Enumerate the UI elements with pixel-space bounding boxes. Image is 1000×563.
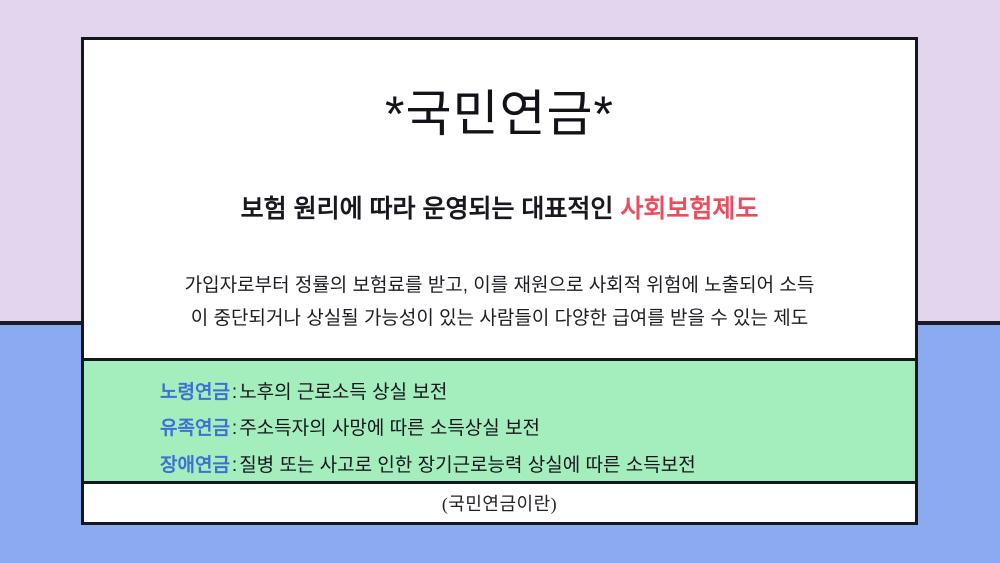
caption-text: (국민연금이란) (442, 490, 557, 516)
benefit-name-old-age: 노령연금 (160, 382, 230, 403)
benefit-description-survivor: 주소득자의 사망에 따른 소득상실 보전 (239, 418, 540, 439)
benefit-row: 장애연금:질병 또는 사고로 인한 장기근로능력 상실에 따른 소득보전 (160, 448, 915, 484)
card-body: *국민연금* 보험 원리에 따라 운영되는 대표적인 사회보험제도 가입자로부터… (84, 40, 915, 358)
info-card: *국민연금* 보험 원리에 따라 운영되는 대표적인 사회보험제도 가입자로부터… (81, 37, 918, 525)
benefit-row: 유족연금:주소득자의 사망에 따른 소득상실 보전 (160, 411, 915, 447)
benefit-separator: : (230, 455, 239, 476)
benefits-panel: 노령연금:노후의 근로소득 상실 보전 유족연금:주소득자의 사망에 따른 소득… (84, 358, 915, 484)
description-paragraph: 가입자로부터 정률의 보험료를 받고, 이를 재원으로 사회적 위험에 노출되어… (120, 225, 880, 336)
page-title: *국민연금* (385, 40, 614, 141)
caption-bar: (국민연금이란) (84, 484, 915, 522)
benefit-name-disability: 장애연금 (160, 455, 230, 476)
benefit-name-survivor: 유족연금 (160, 418, 230, 439)
benefit-row: 노령연금:노후의 근로소득 상실 보전 (160, 375, 915, 411)
subtitle-lead-text: 보험 원리에 따라 운영되는 대표적인 (241, 195, 621, 223)
description-line-2: 이 중단되거나 상실될 가능성이 있는 사람들이 다양한 급여를 받을 수 있는… (120, 302, 880, 335)
subtitle-accent-text: 사회보험제도 (620, 195, 758, 223)
benefit-separator: : (230, 382, 239, 403)
description-line-1: 가입자로부터 정률의 보험료를 받고, 이를 재원으로 사회적 위험에 노출되어… (120, 269, 880, 302)
benefit-separator: : (230, 418, 239, 439)
slide-canvas: *국민연금* 보험 원리에 따라 운영되는 대표적인 사회보험제도 가입자로부터… (0, 0, 1000, 563)
subtitle: 보험 원리에 따라 운영되는 대표적인 사회보험제도 (241, 141, 759, 225)
benefit-description-old-age: 노후의 근로소득 상실 보전 (239, 382, 447, 403)
benefit-description-disability: 질병 또는 사고로 인한 장기근로능력 상실에 따른 소득보전 (239, 455, 695, 476)
